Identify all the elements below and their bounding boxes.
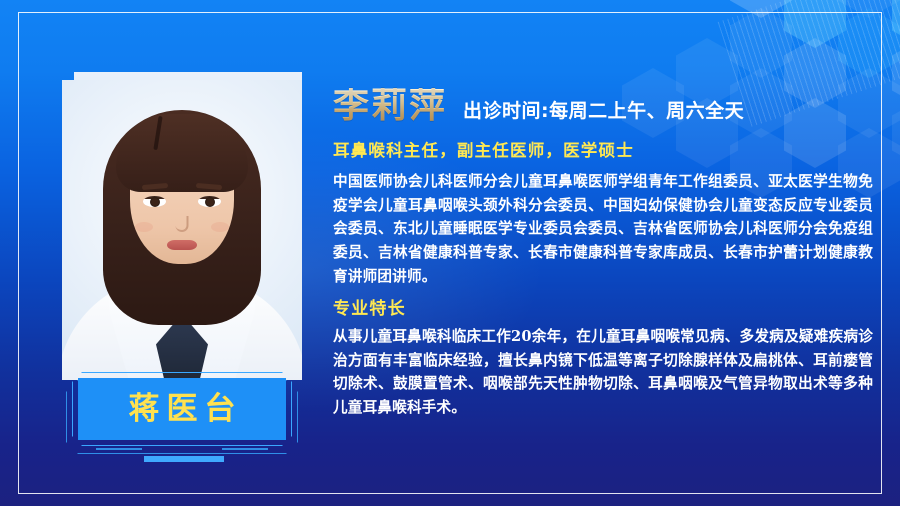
profile-content: 李莉萍 出诊时间:每周二上午、周六全天 耳鼻喉科主任，副主任医师，医学硕士 中国… bbox=[333, 88, 873, 420]
headline-row: 李莉萍 出诊时间:每周二上午、周六全天 bbox=[333, 88, 873, 124]
doctor-name: 李莉萍 bbox=[333, 88, 447, 124]
doctor-photo bbox=[62, 80, 302, 380]
doctor-title: 耳鼻喉科主任，副主任医师，医学硕士 bbox=[333, 137, 873, 161]
doctor-profile-card: 蒋医台 李莉萍 出诊时间:每周二上午、周六全天 耳鼻喉科主任，副主任医师，医学硕… bbox=[0, 0, 900, 506]
hud-tick-right bbox=[222, 448, 268, 450]
hud-accent-bar bbox=[144, 456, 224, 462]
specialty-heading: 专业特长 bbox=[333, 294, 873, 319]
nameplate-label: 蒋医台 bbox=[122, 394, 243, 425]
credentials-paragraph: 中国医师协会儿科医师分会儿童耳鼻喉医师学组青年工作组委员、亚太医学生物免疫学会儿… bbox=[333, 170, 873, 288]
hud-tick-left bbox=[96, 448, 142, 450]
portrait-block: 蒋医台 bbox=[62, 72, 310, 442]
portrait-illustration bbox=[62, 80, 302, 380]
nameplate: 蒋医台 bbox=[78, 378, 286, 440]
nameplate-block: 蒋医台 bbox=[66, 372, 298, 464]
consultation-schedule: 出诊时间:每周二上午、周六全天 bbox=[463, 102, 744, 121]
specialty-paragraph: 从事儿童耳鼻喉科临床工作20余年，在儿童耳鼻咽喉常见病、多发病及疑难疾病诊治方面… bbox=[333, 325, 873, 420]
